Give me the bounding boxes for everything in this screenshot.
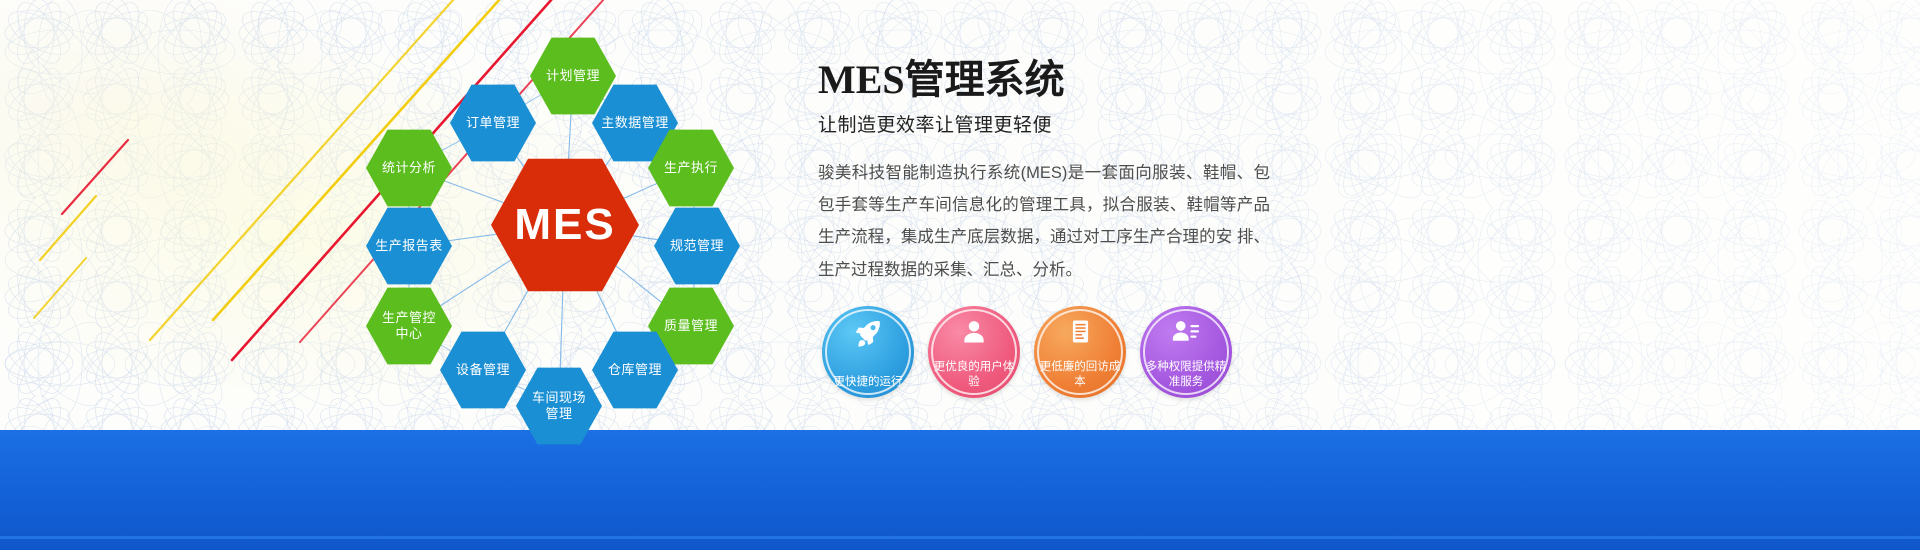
description-paragraph: 骏美科技智能制造执行系统(MES)是一套面向服装、鞋帽、包包手套等生产车间信息化… <box>818 157 1270 286</box>
feature-badge-low-cost-followup[interactable]: 更低廉的回访成本 <box>1034 306 1126 398</box>
user-list-icon <box>1140 318 1232 346</box>
feature-badge-permissions[interactable]: 多种权限提供精准服务 <box>1140 306 1232 398</box>
mes-hexagon-diagram: MES 计划管理 订单管理 主数据管理 统计分析 生产执行 生产报告表 规范管理… <box>330 18 800 428</box>
bottom-blue-band <box>0 430 1920 550</box>
hex-label: 质量管理 <box>664 318 718 334</box>
hex-center-label: MES <box>514 198 615 252</box>
badge-label: 更优良的用户体验 <box>932 360 1016 389</box>
badge-label: 更快捷的运行 <box>826 375 910 389</box>
rocket-icon <box>822 318 914 348</box>
hex-label: 订单管理 <box>466 115 520 131</box>
band-hairline <box>0 536 1920 539</box>
feature-badges: 更快捷的运行 更优良的用户体验 <box>822 306 1252 406</box>
banner-text-column: MES管理系统 让制造更效率让管理更轻便 骏美科技智能制造执行系统(MES)是一… <box>818 58 1288 286</box>
mes-promo-banner: MES 计划管理 订单管理 主数据管理 统计分析 生产执行 生产报告表 规范管理… <box>0 0 1920 550</box>
hex-label: 计划管理 <box>546 68 600 84</box>
hex-label: 仓库管理 <box>608 362 662 378</box>
document-icon <box>1034 318 1126 345</box>
hex-label: 主数据管理 <box>601 115 669 131</box>
hex-label: 规范管理 <box>670 238 724 254</box>
hex-label: 生产执行 <box>664 160 718 176</box>
feature-badge-fast-operation[interactable]: 更快捷的运行 <box>822 306 914 398</box>
hex-label: 统计分析 <box>382 160 436 176</box>
page-subtitle: 让制造更效率让管理更轻便 <box>818 110 1288 137</box>
hex-label: 车间现场管理 <box>530 390 588 422</box>
hex-label: 设备管理 <box>456 362 510 378</box>
page-title: MES管理系统 <box>818 58 1288 102</box>
hex-label: 生产管控中心 <box>378 310 440 342</box>
user-icon <box>928 318 1020 346</box>
hex-label: 生产报告表 <box>375 238 443 254</box>
feature-badge-user-experience[interactable]: 更优良的用户体验 <box>928 306 1020 398</box>
badge-label: 多种权限提供精准服务 <box>1144 360 1228 389</box>
badge-label: 更低廉的回访成本 <box>1038 360 1122 389</box>
